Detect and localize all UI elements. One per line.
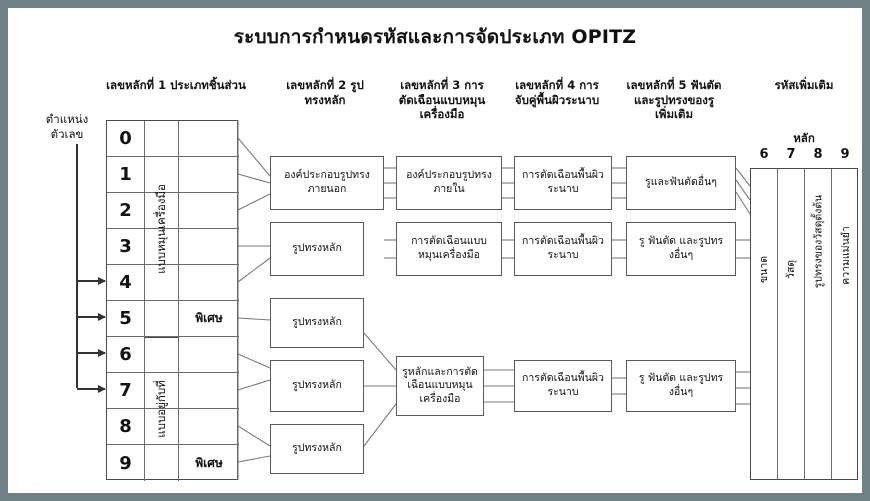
supplementary-code-table: 6 ขนาด 7 วัสดุ 8 รูปทรงของวัสดุตั้งต้น 9… bbox=[750, 168, 858, 480]
special-cell-5: พิเศษ bbox=[179, 301, 239, 337]
column-header-digit2: เลขหลักที่ 2 รูปทรงหลัก bbox=[270, 78, 380, 107]
group-label-rotational-text: แบบหมุนเครื่องมือ bbox=[153, 184, 171, 274]
process-box-main-shape-3[interactable]: รูปทรงหลัก bbox=[270, 360, 364, 412]
digit-cell-3: 3 bbox=[107, 229, 145, 264]
subgroup-cell-3 bbox=[179, 265, 239, 301]
digit-cell-5: 5 bbox=[107, 301, 145, 336]
digit-cell-2: 2 bbox=[107, 193, 145, 228]
digit-cell-8: 8 bbox=[107, 409, 145, 444]
group-label-nonrotational-text: แบบอยู่กับที่ bbox=[153, 380, 171, 438]
digit-cell-7: 7 bbox=[107, 373, 145, 408]
process-box-holes-teeth-1[interactable]: รูและฟันตัดอื่นๆ bbox=[626, 156, 736, 210]
supplementary-label-8: รูปทรงของวัสดุตั้งต้น bbox=[805, 233, 831, 250]
page-title: ระบบการกำหนดรหัสและการจัดประเภท OPITZ bbox=[8, 22, 862, 52]
axis-arrow-row5 bbox=[77, 316, 105, 318]
supplementary-number-8: 8 bbox=[805, 147, 831, 162]
subgroup-cell-1 bbox=[179, 157, 239, 229]
subgroup-cell-2 bbox=[179, 229, 239, 265]
subgroup-cell-5 bbox=[179, 373, 239, 409]
supplementary-column-8[interactable]: 8 รูปทรงของวัสดุตั้งต้น bbox=[805, 169, 832, 479]
supplementary-label-9: ความแม่นยำ bbox=[832, 247, 858, 264]
axis-arrow-row7 bbox=[77, 388, 105, 390]
supplementary-label-7: วัสดุ bbox=[778, 261, 804, 278]
column-header-digit3: เลขหลักที่ 3 การตัดเฉือนแบบหมุนเครื่องมื… bbox=[384, 78, 500, 122]
column-header-digit5: เลขหลักที่ 5 ฟันตัดและรูปทรงของรูเพิ่มเต… bbox=[614, 78, 734, 122]
process-box-plane-surface-2[interactable]: การตัดเฉือนพื้นผิวระนาบ bbox=[514, 222, 612, 276]
process-box-holes-teeth-2[interactable]: รู ฟันตัด และรูปทรงอื่นๆ bbox=[626, 222, 736, 276]
process-box-internal-shape[interactable]: องค์ประกอบรูปทรงภายใน bbox=[396, 156, 502, 210]
process-box-main-shape-1[interactable]: รูปทรงหลัก bbox=[270, 222, 364, 276]
supplementary-number-9: 9 bbox=[832, 147, 858, 162]
column-header-supplementary: รหัสเพิ่มเติม bbox=[744, 78, 864, 93]
process-box-main-hole-rotational[interactable]: รูหลักและการตัดเฉือนแบบหมุนเครื่องมือ bbox=[396, 356, 484, 416]
axis-arrow-row6 bbox=[77, 352, 105, 354]
digit-position-label: ตำแหน่งตัวเลข bbox=[30, 112, 104, 141]
group-label-nonrotational: แบบอยู่กับที่ bbox=[145, 337, 179, 481]
special-cell-9: พิเศษ bbox=[179, 445, 239, 481]
process-box-holes-teeth-3[interactable]: รู ฟันตัด และรูปทรงอื่นๆ bbox=[626, 360, 736, 412]
process-box-plane-surface-1[interactable]: การตัดเฉือนพื้นผิวระนาบ bbox=[514, 156, 612, 210]
supplementary-label-6: ขนาด bbox=[751, 261, 777, 278]
diagram-canvas: ระบบการกำหนดรหัสและการจัดประเภท OPITZ เล… bbox=[8, 8, 862, 493]
digit-position-table: 0 1 2 3 4 5 6 7 8 9 แบบหมุนเครื่องมือ แบ… bbox=[106, 120, 238, 480]
subgroup-cell-0 bbox=[179, 121, 239, 157]
digit-cell-0: 0 bbox=[107, 121, 145, 156]
subgroup-cell-4 bbox=[179, 337, 239, 373]
digit-cell-6: 6 bbox=[107, 337, 145, 372]
process-box-main-shape-4[interactable]: รูปทรงหลัก bbox=[270, 424, 364, 474]
digit-cell-1: 1 bbox=[107, 157, 145, 192]
column-header-digit1: เลขหลักที่ 1 ประเภทชิ้นส่วน bbox=[86, 78, 266, 93]
supplementary-number-6: 6 bbox=[751, 147, 777, 162]
digit-cell-9: 9 bbox=[107, 445, 145, 481]
axis-arrow-row4 bbox=[77, 280, 105, 282]
column-header-digit4: เลขหลักที่ 4 การจับคู่พื้นผิวระนาบ bbox=[502, 78, 612, 107]
group-label-rotational: แบบหมุนเครื่องมือ bbox=[145, 121, 179, 337]
supplementary-column-6[interactable]: 6 ขนาด bbox=[751, 169, 778, 479]
process-box-plane-surface-3[interactable]: การตัดเฉือนพื้นผิวระนาบ bbox=[514, 360, 612, 412]
supplementary-column-7[interactable]: 7 วัสดุ bbox=[778, 169, 805, 479]
supplementary-heading: หลัก bbox=[750, 130, 858, 148]
supplementary-column-9[interactable]: 9 ความแม่นยำ bbox=[832, 169, 858, 479]
digit-cell-4: 4 bbox=[107, 265, 145, 300]
process-box-external-shape[interactable]: องค์ประกอบรูปทรงภายนอก bbox=[270, 156, 384, 210]
subgroup-cell-6 bbox=[179, 409, 239, 445]
supplementary-number-7: 7 bbox=[778, 147, 804, 162]
process-box-main-shape-2[interactable]: รูปทรงหลัก bbox=[270, 298, 364, 348]
process-box-rotational-machining[interactable]: การตัดเฉือนแบบหมุนเครื่องมือ bbox=[396, 222, 502, 276]
